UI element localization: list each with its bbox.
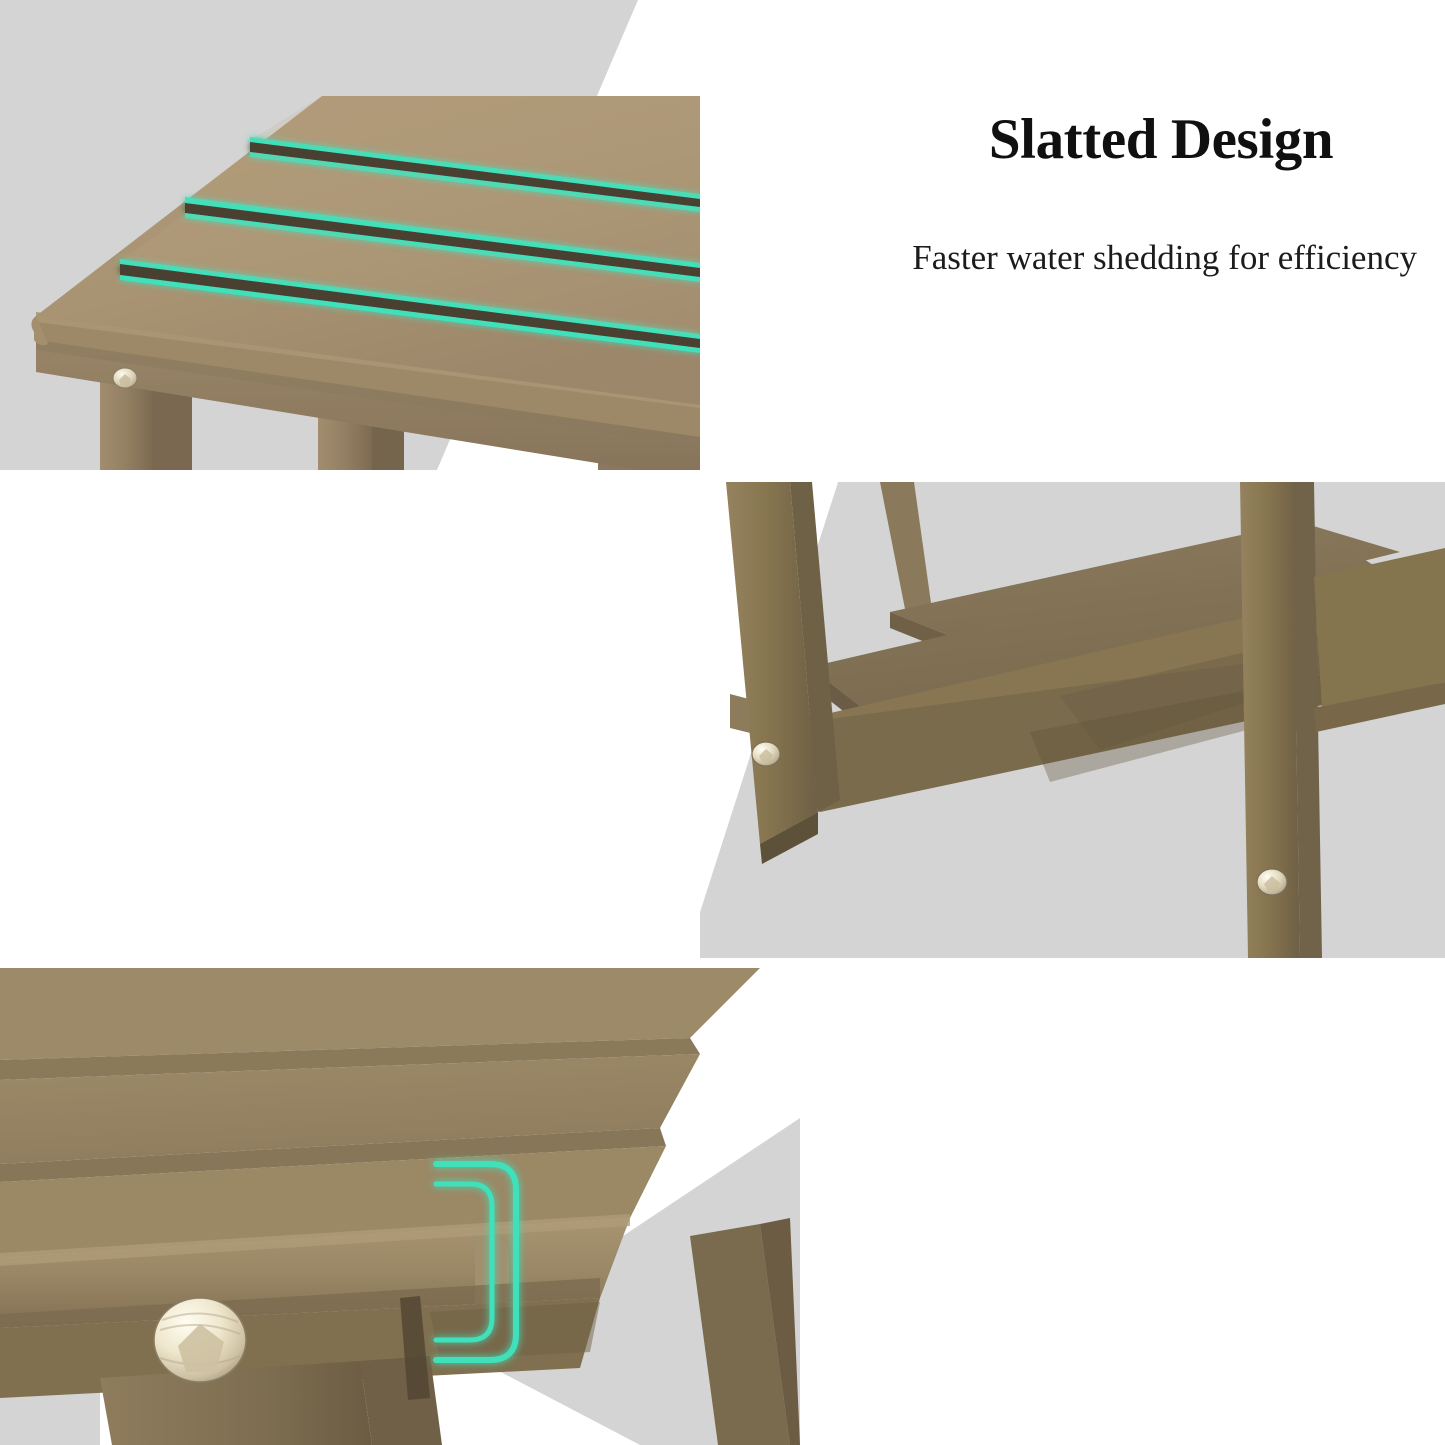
infographic-sheet: Slatted Design Faster water shedding for… bbox=[0, 0, 1445, 1445]
blunted-edge-illustration bbox=[0, 968, 800, 1445]
panel-divider-two bbox=[0, 958, 1445, 968]
panel-slatted-design: Slatted Design Faster water shedding for… bbox=[0, 0, 1445, 470]
slatted-design-illustration bbox=[0, 0, 700, 470]
panel-double-layered-desktop: Double-Layered Desktop Double-Layered De… bbox=[0, 482, 1445, 958]
double-layered-desktop-illustration bbox=[700, 482, 1445, 958]
panel-blunted-edge: Blunted Edge Ensures safe play for child… bbox=[0, 968, 1445, 1445]
panel-slatted-headline: Slatted Design bbox=[905, 108, 1417, 172]
panel-divider-one bbox=[0, 470, 1445, 482]
front-right-leg bbox=[1240, 482, 1322, 958]
slatted-design-copy: Slatted Design Faster water shedding for… bbox=[905, 108, 1417, 287]
panel-slatted-subtext: Faster water shedding for efficiency bbox=[905, 230, 1417, 287]
